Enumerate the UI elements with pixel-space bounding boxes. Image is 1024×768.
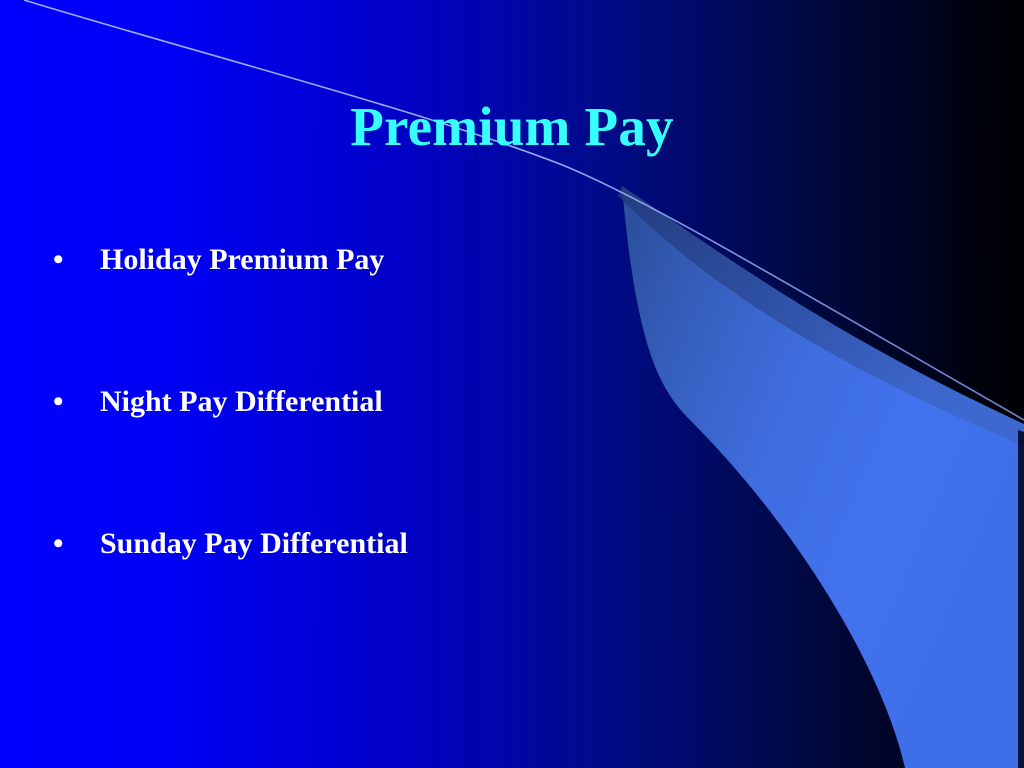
bullet-item-label: Night Pay Differential — [100, 380, 383, 424]
bullet-dot-icon: • — [53, 522, 71, 566]
slide-content: Premium Pay • Holiday Premium Pay • Nigh… — [0, 0, 1024, 768]
slide-title: Premium Pay — [0, 98, 1024, 156]
bullet-dot-icon: • — [53, 238, 71, 282]
bullet-item-holiday-premium-pay: • Holiday Premium Pay — [0, 238, 620, 380]
bullet-item-label: Sunday Pay Differential — [100, 522, 408, 566]
bullet-item-sunday-pay-differential: • Sunday Pay Differential — [0, 522, 620, 664]
bullet-item-label: Holiday Premium Pay — [100, 238, 384, 282]
bullet-list: • Holiday Premium Pay • Night Pay Differ… — [0, 238, 620, 664]
bullet-item-night-pay-differential: • Night Pay Differential — [0, 380, 620, 522]
presentation-slide: Premium Pay • Holiday Premium Pay • Nigh… — [0, 0, 1024, 768]
bullet-dot-icon: • — [53, 380, 71, 424]
